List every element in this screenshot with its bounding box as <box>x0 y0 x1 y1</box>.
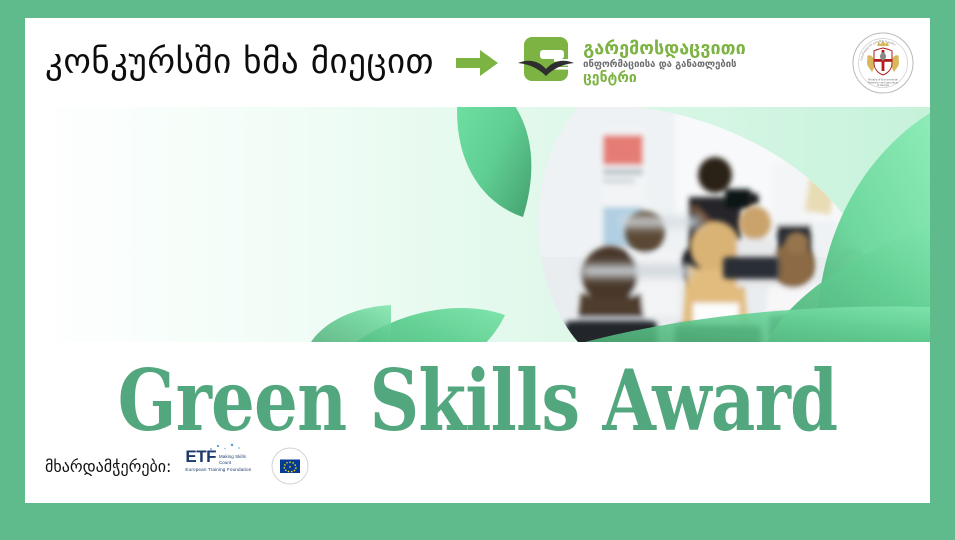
supporters-label: მხარდამჭერები: <box>45 457 171 476</box>
poster-card: კონკურსში ხმა მიეცით <box>25 18 930 503</box>
supporters-footer: მხარდამჭერები: ETF Making Skills Count <box>45 447 309 485</box>
poster-root: კონკურსში ხმა მიეცით <box>0 0 955 540</box>
eiec-logo-line2: ინფორმაციისა და განათლების <box>583 60 746 70</box>
svg-text:of Georgia: of Georgia <box>877 84 890 87</box>
etf-logo-icon: ETF Making Skills Count European Trainin… <box>185 448 257 484</box>
eiec-logo-line1: გარემოსდაცვითი <box>583 40 746 59</box>
eiec-logo-line3: ცენტრი <box>583 71 746 86</box>
etf-tagline-line1: Making Skills <box>219 454 246 460</box>
hero-graphic <box>25 107 930 342</box>
georgia-ministry-seal-icon: საქართველოს გარემოს დაცვისა Ministry of … <box>852 32 914 94</box>
open-book-logo-icon <box>516 33 576 93</box>
page-title: Green Skills Award <box>106 359 848 443</box>
arrow-right-icon <box>456 50 498 76</box>
etf-tagline-line2: Count <box>219 460 246 466</box>
header-kicker-text: კონკურსში ხმა მიეცით <box>45 45 434 80</box>
title-band: Green Skills Award მხარდამჭერები: ETF <box>25 342 930 503</box>
poster-header: კონკურსში ხმა მიეცით <box>25 18 930 107</box>
eiec-logo: გარემოსდაცვითი ინფორმაციისა და განათლები… <box>516 33 746 93</box>
eiec-logo-text: გარემოსდაცვითი ინფორმაციისა და განათლები… <box>583 40 746 86</box>
etf-caption: European Training Foundation <box>185 467 257 472</box>
european-union-flag-icon <box>271 447 309 485</box>
hero-band <box>25 107 930 342</box>
